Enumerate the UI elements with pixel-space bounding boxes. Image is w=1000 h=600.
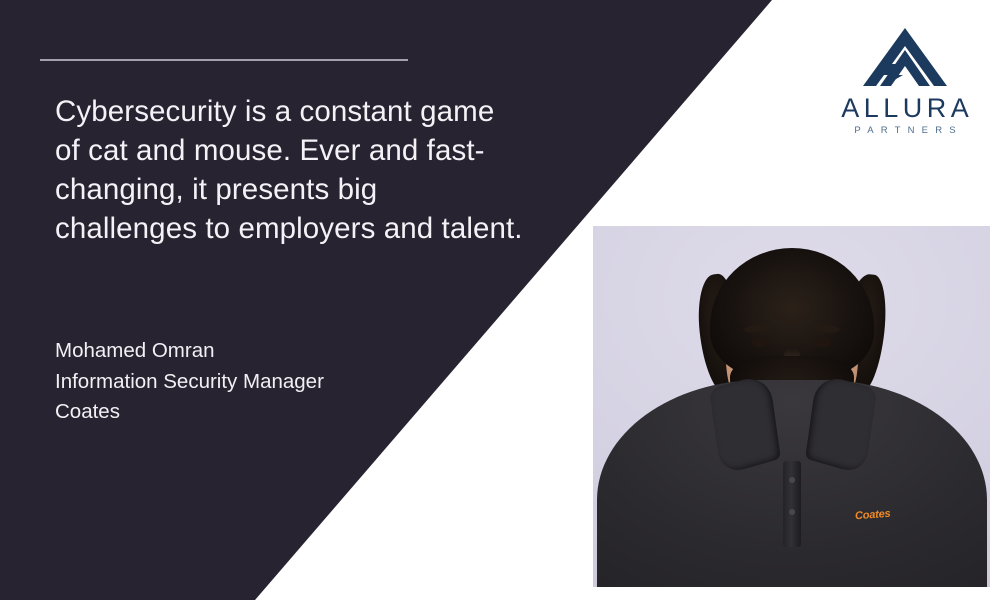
portrait-photo: Coates <box>593 226 990 587</box>
shirt-placket <box>783 461 801 547</box>
attribution-block: Mohamed Omran Information Security Manag… <box>55 336 324 428</box>
attribution-title: Information Security Manager <box>55 367 324 398</box>
shirt-coates-logo: Coates <box>855 508 891 522</box>
allura-triangle-mark-icon <box>862 26 948 88</box>
eye-left <box>752 338 769 347</box>
quote-slide: Cybersecurity is a constant game of cat … <box>0 0 1000 600</box>
quote-text: Cybersecurity is a constant game of cat … <box>55 92 525 248</box>
attribution-company: Coates <box>55 397 324 428</box>
logo-subword: PARTNERS <box>830 126 980 136</box>
attribution-name: Mohamed Omran <box>55 336 324 367</box>
eye-right <box>814 338 831 347</box>
allura-partners-logo: ALLURA PARTNERS <box>830 26 980 136</box>
shirt-button-bottom <box>789 509 795 515</box>
quote-divider-rule <box>40 59 408 61</box>
logo-wordmark: ALLURA <box>830 94 980 122</box>
shirt-button-top <box>789 477 795 483</box>
